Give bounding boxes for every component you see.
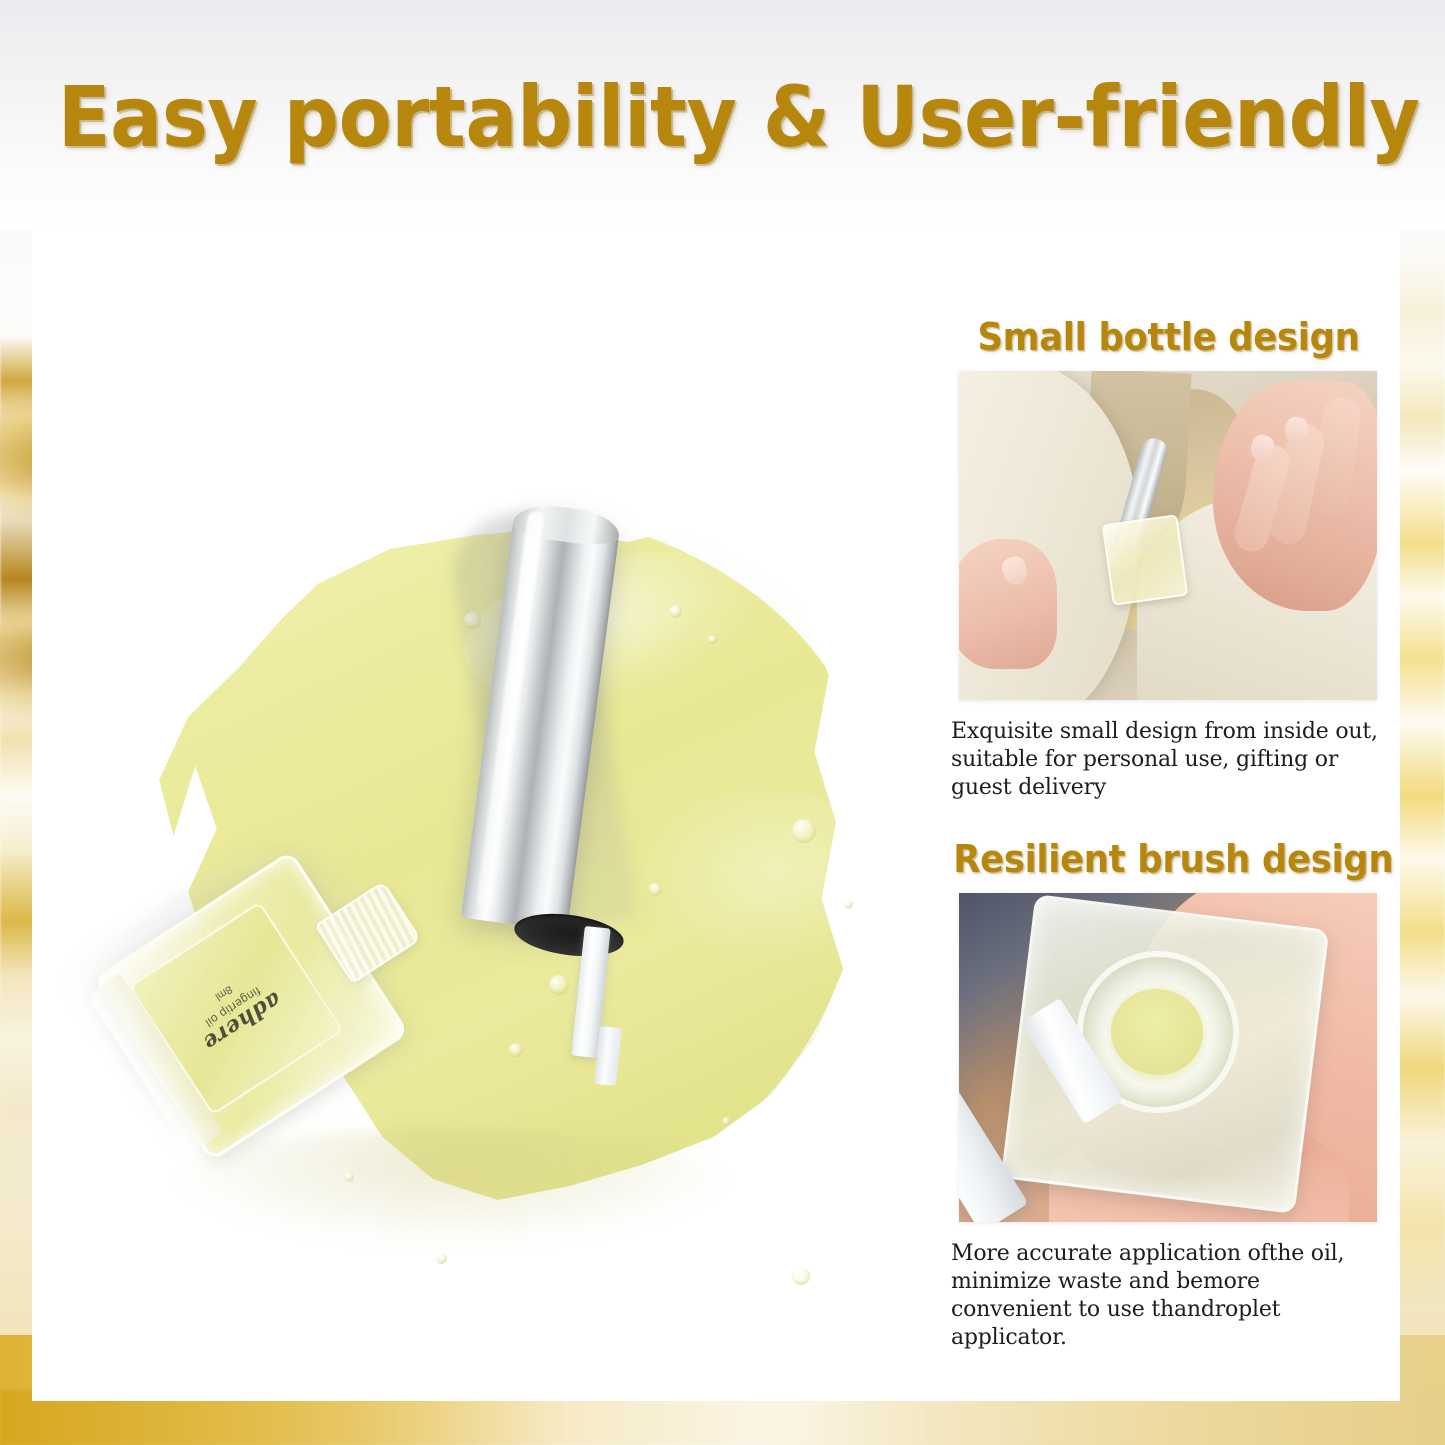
feature-caption: Exquisite small design from inside out, … [951, 718, 1386, 802]
product-infographic: Easy portability & User-friendly Design [0, 0, 1445, 1445]
oil-bubble [509, 1043, 523, 1057]
page-title: Easy portability & User-friendly Design [58, 74, 1387, 160]
feature-photo-brush [959, 893, 1377, 1222]
oil-bubble [792, 1267, 810, 1285]
oil-puddle-shadow [172, 1127, 732, 1247]
oil-bubble [722, 1117, 731, 1126]
oil-bubble [844, 900, 853, 909]
oil-bubble [708, 635, 717, 644]
feature-column: Small bottle design [937, 227, 1400, 1401]
oil-bubble [649, 883, 662, 896]
feature-heading: Resilient brush design [953, 837, 1384, 881]
content-card: adhere fingertip oil 8ml Small bottle de… [32, 227, 1400, 1401]
feature-resilient-brush-design: Resilient brush design More accurate app… [937, 837, 1400, 1352]
feature-heading: Small bottle design [953, 315, 1384, 359]
hero-image: adhere fingertip oil 8ml [32, 227, 937, 1401]
oil-bubble [549, 975, 569, 995]
oil-bubble [344, 1172, 354, 1182]
feature-caption: More accurate application ofthe oil, min… [951, 1240, 1386, 1352]
oil-bubble [436, 1253, 447, 1264]
oil-bubble [669, 605, 682, 618]
feature-photo-small-bottle [959, 371, 1377, 700]
product-bottle: adhere fingertip oil 8ml [93, 853, 401, 1156]
bottle-in-bag [1102, 514, 1189, 606]
feature-small-bottle-design: Small bottle design [937, 315, 1400, 802]
oil-bubble [792, 819, 816, 843]
oil-puddle-highlight-secondary [632, 787, 892, 967]
